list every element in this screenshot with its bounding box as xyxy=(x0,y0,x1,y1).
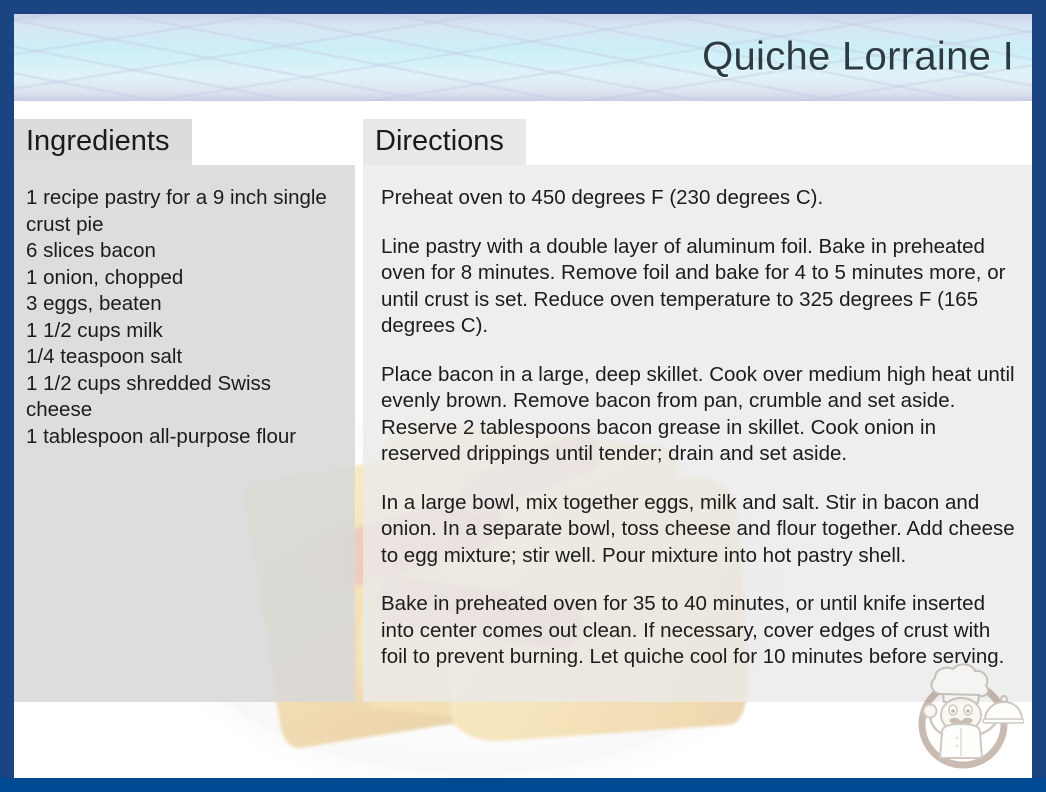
list-item: 1/4 teaspoon salt xyxy=(26,344,341,371)
frame-border-top xyxy=(0,0,1046,14)
direction-step: Bake in preheated oven for 35 to 40 minu… xyxy=(381,591,1016,671)
card-body: Quiche Lorraine I Ingredients 1 recipe p… xyxy=(14,14,1032,778)
page-title: Quiche Lorraine I xyxy=(702,34,1014,79)
frame-border-right xyxy=(1032,0,1046,792)
title-banner: Quiche Lorraine I xyxy=(14,14,1032,101)
list-item: 1 onion, chopped xyxy=(26,265,341,292)
direction-step: Preheat oven to 450 degrees F (230 degre… xyxy=(381,185,1016,212)
directions-panel: Preheat oven to 450 degrees F (230 degre… xyxy=(363,165,1032,702)
frame-border-bottom xyxy=(0,778,1046,792)
ingredients-heading: Ingredients xyxy=(14,119,192,165)
list-item: 3 eggs, beaten xyxy=(26,291,341,318)
ingredients-panel: 1 recipe pastry for a 9 inch single crus… xyxy=(14,165,355,702)
direction-step: Place bacon in a large, deep skillet. Co… xyxy=(381,362,1016,468)
list-item: 1 tablespoon all-purpose flour xyxy=(26,424,341,451)
direction-step: In a large bowl, mix together eggs, milk… xyxy=(381,490,1016,570)
list-item: 1 1/2 cups shredded Swiss cheese xyxy=(26,371,341,424)
directions-heading: Directions xyxy=(363,119,526,165)
list-item: 1 1/2 cups milk xyxy=(26,318,341,345)
list-item: 1 recipe pastry for a 9 inch single crus… xyxy=(26,185,341,238)
directions-column: Directions Preheat oven to 450 degrees F… xyxy=(363,119,1032,702)
list-item: 6 slices bacon xyxy=(26,238,341,265)
ingredients-column: Ingredients 1 recipe pastry for a 9 inch… xyxy=(14,119,355,702)
recipe-card: Quiche Lorraine I Ingredients 1 recipe p… xyxy=(0,0,1046,792)
direction-step: Line pastry with a double layer of alumi… xyxy=(381,234,1016,340)
frame-border-left xyxy=(0,0,14,792)
